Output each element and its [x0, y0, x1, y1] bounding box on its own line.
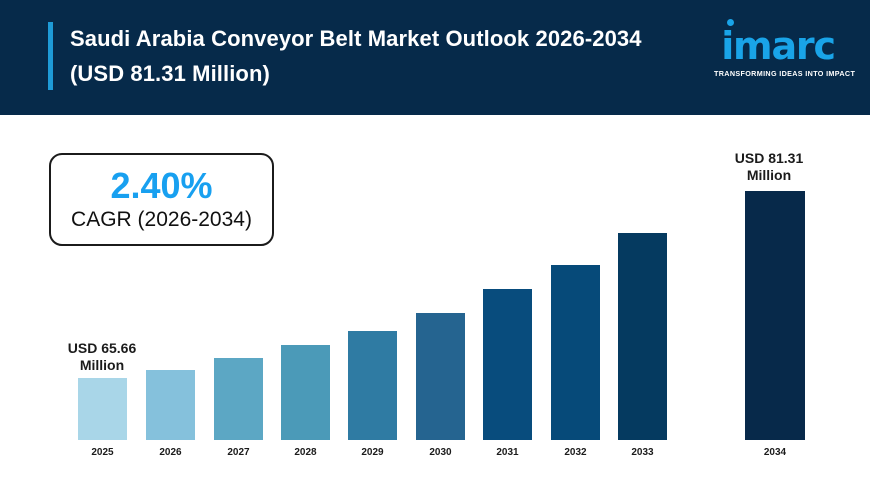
- bar-2031: [483, 289, 532, 440]
- bar-2026: [146, 370, 195, 440]
- bar-2029: [348, 331, 397, 440]
- bar-chart: USD 65.66 Million USD 81.31 Million 2025…: [0, 0, 870, 489]
- x-axis-label-2033: 2033: [606, 447, 679, 458]
- bar-2030: [416, 313, 465, 440]
- bar-2027: [214, 358, 263, 440]
- x-axis-label-2032: 2032: [539, 447, 612, 458]
- bar-2034: [745, 191, 805, 440]
- first-bar-value-line-2: Million: [48, 357, 156, 374]
- x-axis-label-2034: 2034: [733, 447, 817, 458]
- bar-2028: [281, 345, 330, 440]
- x-axis-label-2028: 2028: [269, 447, 342, 458]
- first-bar-value-line-1: USD 65.66: [48, 340, 156, 357]
- x-axis-label-2029: 2029: [336, 447, 409, 458]
- bar-2025: [78, 378, 127, 440]
- first-bar-value-label: USD 65.66 Million: [48, 340, 156, 374]
- last-bar-value-label: USD 81.31 Million: [714, 150, 824, 184]
- last-bar-value-line-1: USD 81.31: [714, 150, 824, 167]
- bar-2033: [618, 233, 667, 440]
- bar-2032: [551, 265, 600, 440]
- x-axis-label-2025: 2025: [66, 447, 139, 458]
- x-axis-label-2031: 2031: [471, 447, 544, 458]
- x-axis-label-2030: 2030: [404, 447, 477, 458]
- x-axis-label-2027: 2027: [202, 447, 275, 458]
- x-axis-label-2026: 2026: [134, 447, 207, 458]
- last-bar-value-line-2: Million: [714, 167, 824, 184]
- infographic-page: Saudi Arabia Conveyor Belt Market Outloo…: [0, 0, 870, 489]
